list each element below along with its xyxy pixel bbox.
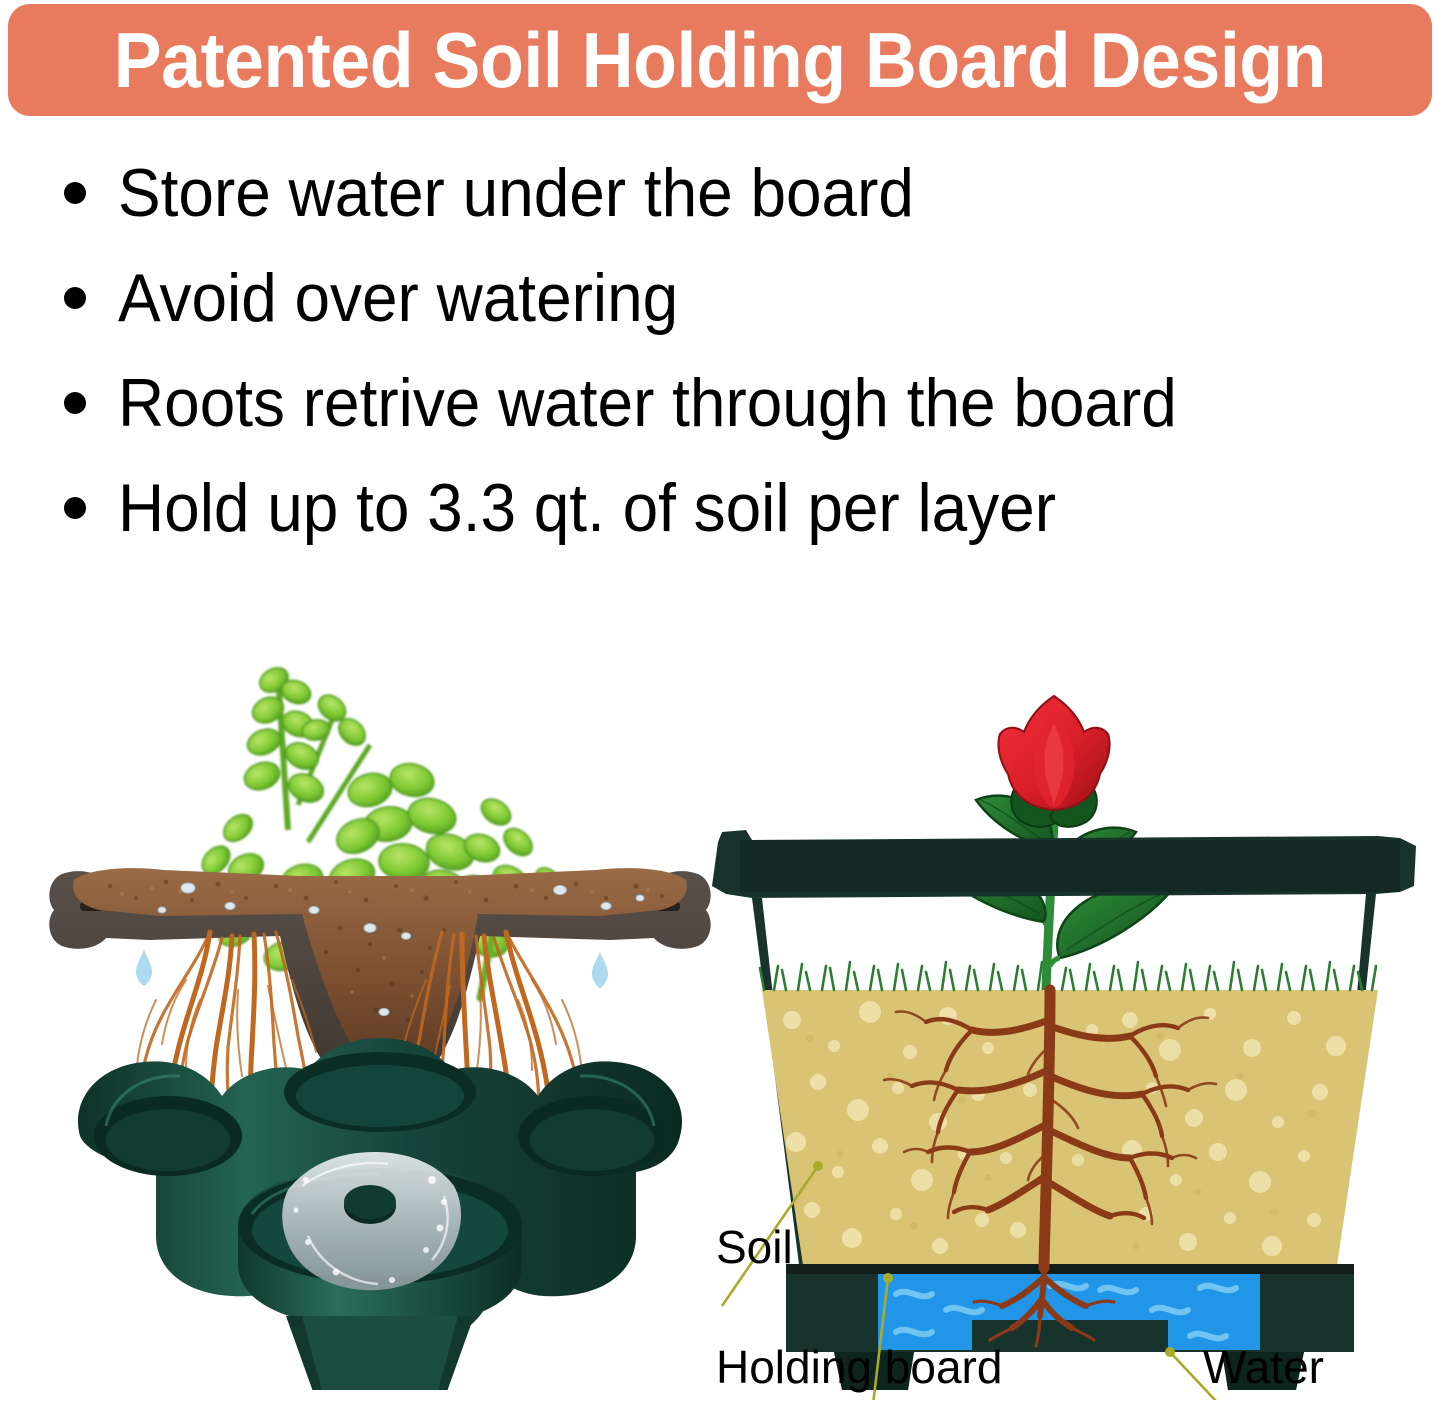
planter-illustration	[40, 580, 720, 1390]
product-photo-stackable-planter	[40, 580, 720, 1390]
infographic-page: Patented Soil Holding Board Design Store…	[0, 0, 1445, 1406]
list-item: Roots retrive water through the board	[44, 350, 1414, 455]
cross-section-diagram	[700, 690, 1440, 1400]
feature-label: Avoid over watering	[118, 262, 678, 334]
drain-hole-with-water-icon	[282, 1152, 461, 1290]
bullet-dot-icon	[64, 497, 86, 519]
list-item: Avoid over watering	[44, 245, 1414, 350]
soil-layer-icon	[750, 980, 1400, 1280]
list-item: Hold up to 3.3 qt. of soil per layer	[44, 455, 1414, 560]
feature-label: Store water under the board	[118, 157, 914, 229]
bullet-dot-icon	[64, 287, 86, 309]
callout-label-soil: Soil	[716, 1222, 793, 1272]
grass-line-icon	[760, 962, 1376, 990]
feature-label: Hold up to 3.3 qt. of soil per layer	[118, 472, 1056, 544]
planter-pot-icon	[78, 1038, 682, 1390]
holding-board-line-icon	[786, 1264, 1354, 1274]
bullet-dot-icon	[64, 392, 86, 414]
pot-cross-section-illustration	[700, 690, 1440, 1400]
feature-label: Roots retrive water through the board	[118, 367, 1177, 439]
bullet-dot-icon	[64, 182, 86, 204]
list-item: Store water under the board	[44, 140, 1414, 245]
callout-label-holding-board: Holding board	[716, 1342, 1002, 1392]
header-banner: Patented Soil Holding Board Design	[8, 4, 1432, 116]
feature-list: Store water under the board Avoid over w…	[44, 140, 1414, 560]
page-title: Patented Soil Holding Board Design	[114, 20, 1326, 100]
callout-label-water: Water	[1203, 1342, 1324, 1392]
